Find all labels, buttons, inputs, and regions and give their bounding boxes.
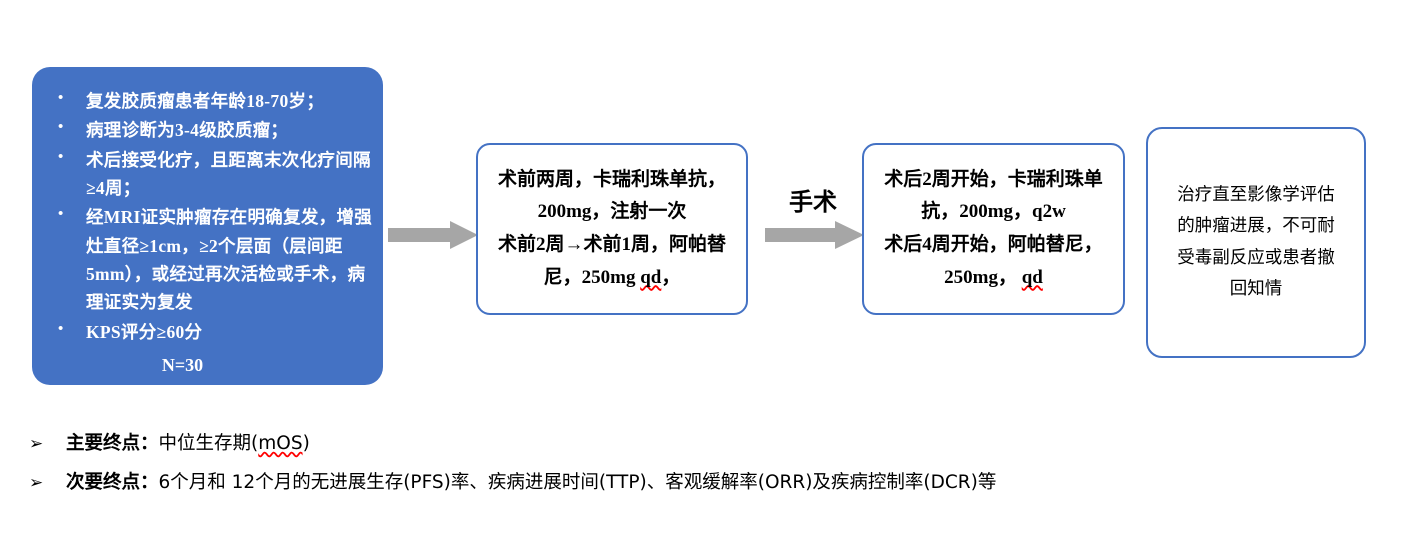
endpoints-section: 主要终点：中位生存期(mOS) 次要终点：6个月和 12个月的无进展生存(PFS… (24, 432, 1384, 510)
criteria-item: 病理诊断为3-4级胶质瘤； (42, 116, 373, 144)
secondary-endpoint-row: 次要终点：6个月和 12个月的无进展生存(PFS)率、疾病进展时间(TTP)、客… (24, 471, 1384, 496)
primary-endpoint-text-after: ) (303, 433, 310, 454)
until-line: 治疗直至影像学评估 (1177, 180, 1335, 211)
preop-line: 200mg，注射一次 (538, 196, 687, 229)
primary-endpoint-label: 主要终点： (66, 433, 159, 454)
postop-line: 术后2周开始，卡瑞利珠单 (884, 164, 1103, 197)
trial-design-flowchart: 复发胶质瘤患者年龄18-70岁； 病理诊断为3-4级胶质瘤； 术后接受化疗，且距… (0, 0, 1412, 542)
arrow-right-icon (388, 221, 478, 249)
eligibility-criteria-list: 复发胶质瘤患者年龄18-70岁； 病理诊断为3-4级胶质瘤； 术后接受化疗，且距… (42, 87, 373, 346)
postoperative-regimen-box: 术后2周开始，卡瑞利珠单 抗，200mg，q2w 术后4周开始，阿帕替尼， 25… (862, 143, 1125, 315)
arrow-right-icon (765, 221, 864, 249)
until-line: 受毒副反应或患者撤 (1177, 243, 1335, 274)
postop-line: 术后4周开始，阿帕替尼， (884, 229, 1103, 262)
surgery-step-label: 手术 (763, 182, 863, 217)
criteria-item: KPS评分≥60分 (42, 318, 373, 346)
secondary-endpoint-label: 次要终点： (66, 472, 159, 493)
secondary-endpoint-text: 6个月和 12个月的无进展生存(PFS)率、疾病进展时间(TTP)、客观缓解率(… (159, 472, 997, 493)
spellcheck-word: qd (640, 267, 661, 288)
criteria-item: 复发胶质瘤患者年龄18-70岁； (42, 87, 373, 115)
primary-endpoint-text-before: 中位生存期( (159, 433, 259, 454)
spellcheck-word: mOS (258, 433, 302, 454)
eligibility-criteria-box: 复发胶质瘤患者年龄18-70岁； 病理诊断为3-4级胶质瘤； 术后接受化疗，且距… (32, 67, 383, 385)
treatment-until-progression-box: 治疗直至影像学评估 的肿瘤进展，不可耐 受毒副反应或患者撤 回知情 (1146, 127, 1366, 358)
postop-line-dosing: 250mg， qd (944, 262, 1043, 295)
sample-size-label: N=30 (42, 355, 373, 376)
preop-line-dosing: 尼，250mg qd， (544, 262, 681, 295)
until-line: 回知情 (1230, 274, 1283, 305)
preoperative-regimen-box: 术前两周，卡瑞利珠单抗， 200mg，注射一次 术前2周→术前1周，阿帕替 尼，… (476, 143, 748, 315)
primary-endpoint-row: 主要终点：中位生存期(mOS) (24, 432, 1384, 457)
postop-line: 抗，200mg，q2w (921, 196, 1066, 229)
until-line: 的肿瘤进展，不可耐 (1177, 211, 1335, 242)
criteria-item: 经MRI证实肿瘤存在明确复发，增强灶直径≥1cm，≥2个层面（层间距5mm），或… (42, 203, 373, 316)
preop-line: 术前2周→术前1周，阿帕替 (498, 229, 726, 262)
spellcheck-word: qd (1022, 267, 1043, 288)
criteria-item: 术后接受化疗，且距离末次化疗间隔≥4周； (42, 146, 373, 203)
preop-line: 术前两周，卡瑞利珠单抗， (498, 164, 726, 197)
